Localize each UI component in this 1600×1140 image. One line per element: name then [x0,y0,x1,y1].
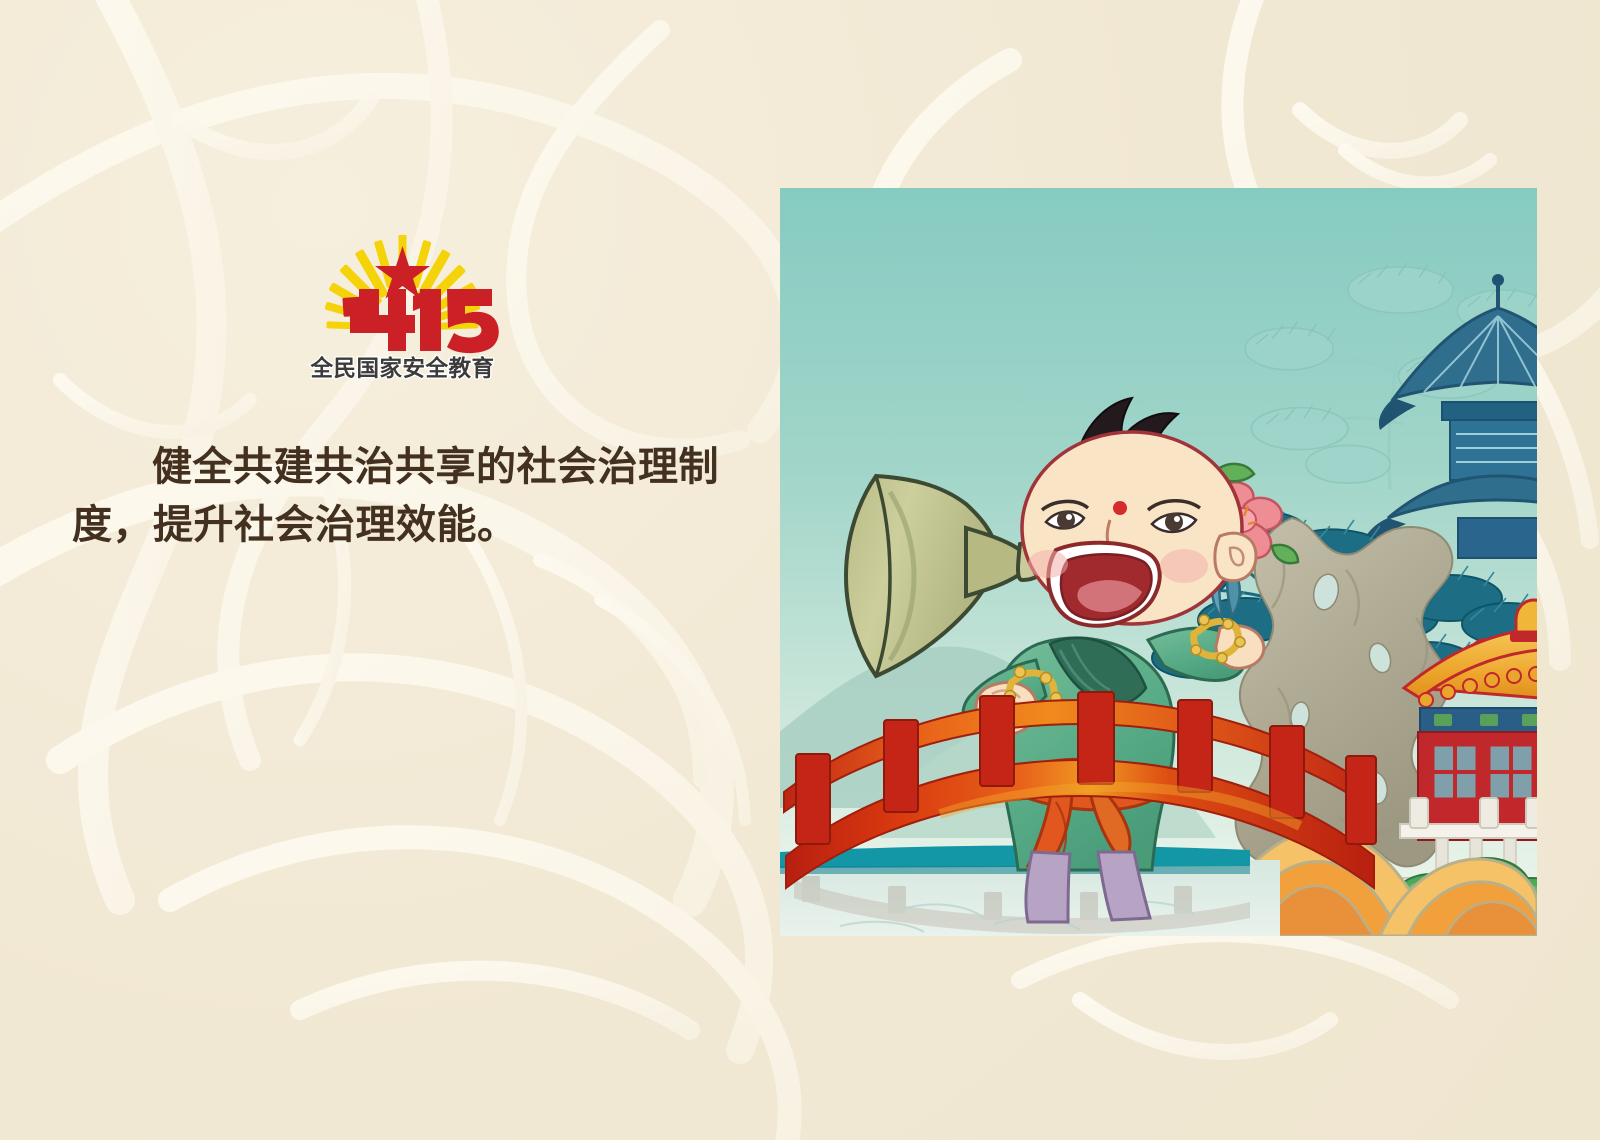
svg-text:全民国家安全教育: 全民国家安全教育 [309,355,494,381]
logo-caption: 全民国家安全教育 [309,355,494,381]
poster-root: 全民国家安全教育 健全共建共治共享的社会治理制度，提升社会治理效能。 [0,0,1600,1140]
logo-415-number [342,289,498,353]
slogan-text: 健全共建共治共享的社会治理制度，提升社会治理效能。 [72,438,762,554]
left-content-column: 全民国家安全教育 健全共建共治共享的社会治理制度，提升社会治理效能。 [0,0,780,1140]
forehead-dot [1113,501,1127,515]
slogan-full: 健全共建共治共享的社会治理制度，提升社会治理效能。 [72,445,719,547]
illustration-panel [780,188,1537,936]
415-logo: 全民国家安全教育 [295,235,510,385]
